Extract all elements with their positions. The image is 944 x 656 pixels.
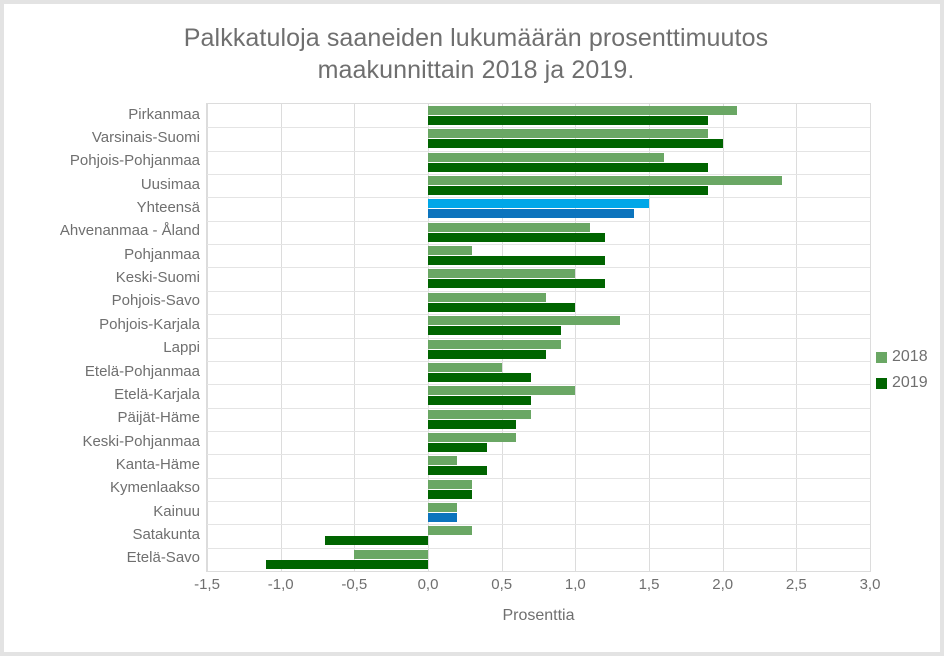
bar-2018 bbox=[428, 246, 472, 255]
bar-group bbox=[207, 291, 870, 314]
bar-2019 bbox=[428, 256, 605, 265]
bar-2018 bbox=[428, 293, 546, 302]
bar-group bbox=[207, 244, 870, 267]
bar-group bbox=[207, 361, 870, 384]
bar-group bbox=[207, 314, 870, 337]
legend-label: 2018 bbox=[892, 348, 928, 366]
bar-group bbox=[207, 104, 870, 127]
bar-2018 bbox=[428, 269, 575, 278]
x-axis-tick-label: 3,0 bbox=[860, 576, 881, 594]
bar-2018 bbox=[354, 550, 428, 559]
legend-swatch-icon bbox=[876, 352, 887, 363]
y-axis-label: Kanta-Häme bbox=[116, 457, 200, 473]
bar-2018 bbox=[428, 106, 737, 115]
bar-2018 bbox=[428, 526, 472, 535]
bar-group bbox=[207, 524, 870, 547]
y-axis-label: Keski-Suomi bbox=[116, 270, 200, 286]
bar-group bbox=[207, 501, 870, 524]
chart-title-line-1: Palkkatuloja saaneiden lukumäärän prosen… bbox=[64, 22, 888, 54]
bar-2018 bbox=[428, 129, 708, 138]
y-axis-label: Satakunta bbox=[132, 527, 200, 543]
bar-2019 bbox=[428, 396, 531, 405]
bar-group bbox=[207, 454, 870, 477]
bar-group bbox=[207, 127, 870, 150]
y-axis-label: Pohjois-Karjala bbox=[99, 317, 200, 333]
bar-2019 bbox=[428, 116, 708, 125]
bar-2018 bbox=[428, 199, 649, 208]
y-axis-label: Päijät-Häme bbox=[117, 410, 200, 426]
x-axis-tick-label: 1,0 bbox=[565, 576, 586, 594]
y-axis-label: Yhteensä bbox=[137, 200, 200, 216]
bar-2019 bbox=[428, 513, 457, 522]
legend-label: 2019 bbox=[892, 374, 928, 392]
bar-2018 bbox=[428, 456, 457, 465]
bar-2018 bbox=[428, 433, 516, 442]
y-axis-label: Pohjanmaa bbox=[124, 247, 200, 263]
bar-2018 bbox=[428, 386, 575, 395]
y-axis-label: Uusimaa bbox=[141, 177, 200, 193]
bar-2018 bbox=[428, 223, 590, 232]
x-axis-tick-label: 0,0 bbox=[418, 576, 439, 594]
bar-group bbox=[207, 548, 870, 571]
bar-2019 bbox=[428, 350, 546, 359]
bar-2018 bbox=[428, 316, 620, 325]
bar-2018 bbox=[428, 503, 457, 512]
y-axis-label: Lappi bbox=[163, 340, 200, 356]
x-axis-tick-label: -1,5 bbox=[194, 576, 220, 594]
chart-title-line-2: maakunnittain 2018 ja 2019. bbox=[64, 54, 888, 86]
bar-2019 bbox=[428, 373, 531, 382]
y-axis-label: Pohjois-Pohjanmaa bbox=[70, 153, 200, 169]
y-axis-label: Pirkanmaa bbox=[128, 107, 200, 123]
x-axis-tick-labels: -1,5-1,0-0,50,00,51,01,52,02,53,0 bbox=[4, 576, 944, 598]
y-axis-label: Etelä-Savo bbox=[127, 550, 200, 566]
bar-2019 bbox=[428, 466, 487, 475]
x-axis-title: Prosenttia bbox=[206, 607, 871, 625]
y-axis-label: Varsinais-Suomi bbox=[92, 130, 200, 146]
bar-group bbox=[207, 338, 870, 361]
gridline-vertical bbox=[870, 104, 871, 571]
bar-2019 bbox=[428, 490, 472, 499]
legend-item[interactable]: 2018 bbox=[876, 344, 928, 370]
y-axis-label: Pohjois-Savo bbox=[112, 293, 200, 309]
bar-2018 bbox=[428, 176, 782, 185]
x-axis-tick-label: 2,0 bbox=[712, 576, 733, 594]
bar-2019 bbox=[325, 536, 428, 545]
plot-area bbox=[206, 103, 871, 572]
bar-group bbox=[207, 151, 870, 174]
y-axis-label: Kainuu bbox=[153, 504, 200, 520]
bar-2018 bbox=[428, 363, 502, 372]
bar-2019 bbox=[428, 139, 723, 148]
legend-item[interactable]: 2019 bbox=[876, 370, 928, 396]
y-axis-label: Etelä-Karjala bbox=[114, 387, 200, 403]
bar-2019 bbox=[428, 420, 516, 429]
x-axis-tick-label: 1,5 bbox=[639, 576, 660, 594]
bar-2018 bbox=[428, 480, 472, 489]
bar-group bbox=[207, 384, 870, 407]
chart-title: Palkkatuloja saaneiden lukumäärän prosen… bbox=[64, 22, 888, 86]
bar-2019 bbox=[428, 279, 605, 288]
bar-2019 bbox=[428, 233, 605, 242]
y-axis-label: Ahvenanmaa - Åland bbox=[60, 223, 200, 239]
x-axis-tick-label: -1,0 bbox=[268, 576, 294, 594]
bar-2019 bbox=[428, 303, 575, 312]
legend-swatch-icon bbox=[876, 378, 887, 389]
bar-2019 bbox=[428, 163, 708, 172]
bar-group bbox=[207, 267, 870, 290]
bar-2019 bbox=[428, 443, 487, 452]
y-axis-label: Kymenlaakso bbox=[110, 480, 200, 496]
bar-group bbox=[207, 431, 870, 454]
bar-2018 bbox=[428, 410, 531, 419]
bar-group bbox=[207, 197, 870, 220]
y-axis-label: Etelä-Pohjanmaa bbox=[85, 364, 200, 380]
bar-2019 bbox=[428, 186, 708, 195]
y-axis-labels: PirkanmaaVarsinais-SuomiPohjois-Pohjanma… bbox=[4, 103, 200, 572]
bar-group bbox=[207, 478, 870, 501]
chart-legend: 20182019 bbox=[876, 344, 928, 396]
bar-2019 bbox=[428, 326, 561, 335]
bar-2018 bbox=[428, 340, 561, 349]
bar-2019 bbox=[266, 560, 428, 569]
bar-2018 bbox=[428, 153, 664, 162]
bar-group bbox=[207, 174, 870, 197]
y-axis-label: Keski-Pohjanmaa bbox=[82, 434, 200, 450]
bar-2019 bbox=[428, 209, 634, 218]
x-axis-tick-label: -0,5 bbox=[341, 576, 367, 594]
bar-group bbox=[207, 221, 870, 244]
x-axis-tick-label: 2,5 bbox=[786, 576, 807, 594]
x-axis-tick-label: 0,5 bbox=[491, 576, 512, 594]
bar-group bbox=[207, 408, 870, 431]
chart-frame: Palkkatuloja saaneiden lukumäärän prosen… bbox=[0, 0, 944, 656]
